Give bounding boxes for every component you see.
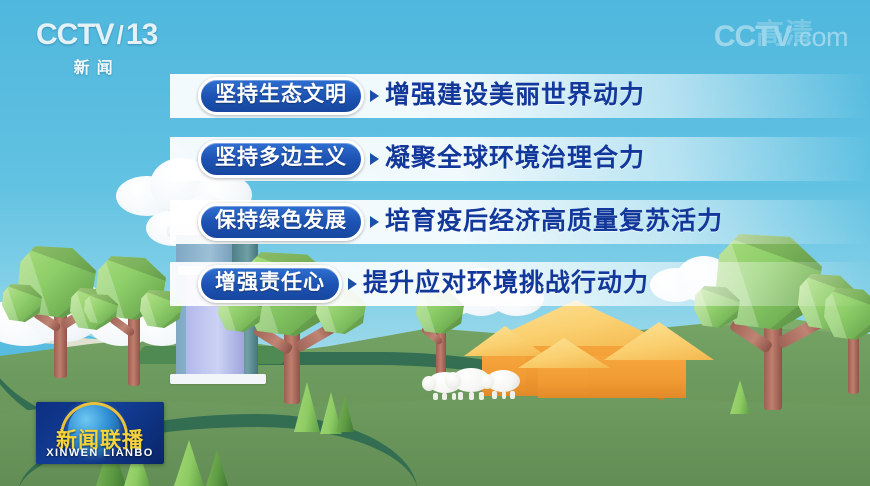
play-arrow-icon [370, 153, 379, 165]
program-bug: 新闻联播 XINWEN LIANBO [36, 402, 164, 464]
headline-badge-2[interactable]: 坚持多边主义 [198, 140, 364, 178]
broadcast-screen: 坚持生态文明 增强建设美丽世界动力 坚持多边主义 凝聚全球环境治理合力 保持绿色… [0, 0, 870, 486]
headline-phrase-3: 培育疫后经济高质量复苏活力 [385, 208, 723, 236]
channel-logo-number: 13 [126, 18, 157, 52]
headline-phrase-1: 增强建设美丽世界动力 [385, 82, 645, 110]
headline-badge-4[interactable]: 增强责任心 [198, 265, 342, 303]
headline-row-1: 坚持生态文明 增强建设美丽世界动力 [0, 74, 870, 118]
headline-row-4: 增强责任心 提升应对环境挑战行动力 [0, 262, 870, 306]
headline-badge-1[interactable]: 坚持生态文明 [198, 77, 364, 115]
program-bug-romanization: XINWEN LIANBO [36, 447, 164, 459]
headline-phrase-4: 提升应对环境挑战行动力 [363, 270, 649, 298]
channel-logo-cctv: CCTV [36, 18, 114, 52]
watermark-hd-label: 高清 [756, 12, 814, 52]
play-arrow-icon [370, 90, 379, 102]
play-arrow-icon [370, 216, 379, 228]
play-arrow-icon [348, 278, 357, 290]
channel-logo-slash: / [117, 20, 123, 51]
channel-logo-subtitle: 新闻 [36, 54, 157, 78]
headline-phrase-2: 凝聚全球环境治理合力 [385, 145, 645, 173]
channel-logo: CCTV / 13 新闻 [36, 18, 157, 78]
headline-row-3: 保持绿色发展 培育疫后经济高质量复苏活力 [0, 200, 870, 244]
headline-row-2: 坚持多边主义 凝聚全球环境治理合力 [0, 137, 870, 181]
cctv-com-watermark: 高清 CCTV .com [714, 20, 848, 54]
channel-logo-row: CCTV / 13 [36, 18, 157, 52]
headline-badge-3[interactable]: 保持绿色发展 [198, 203, 364, 241]
